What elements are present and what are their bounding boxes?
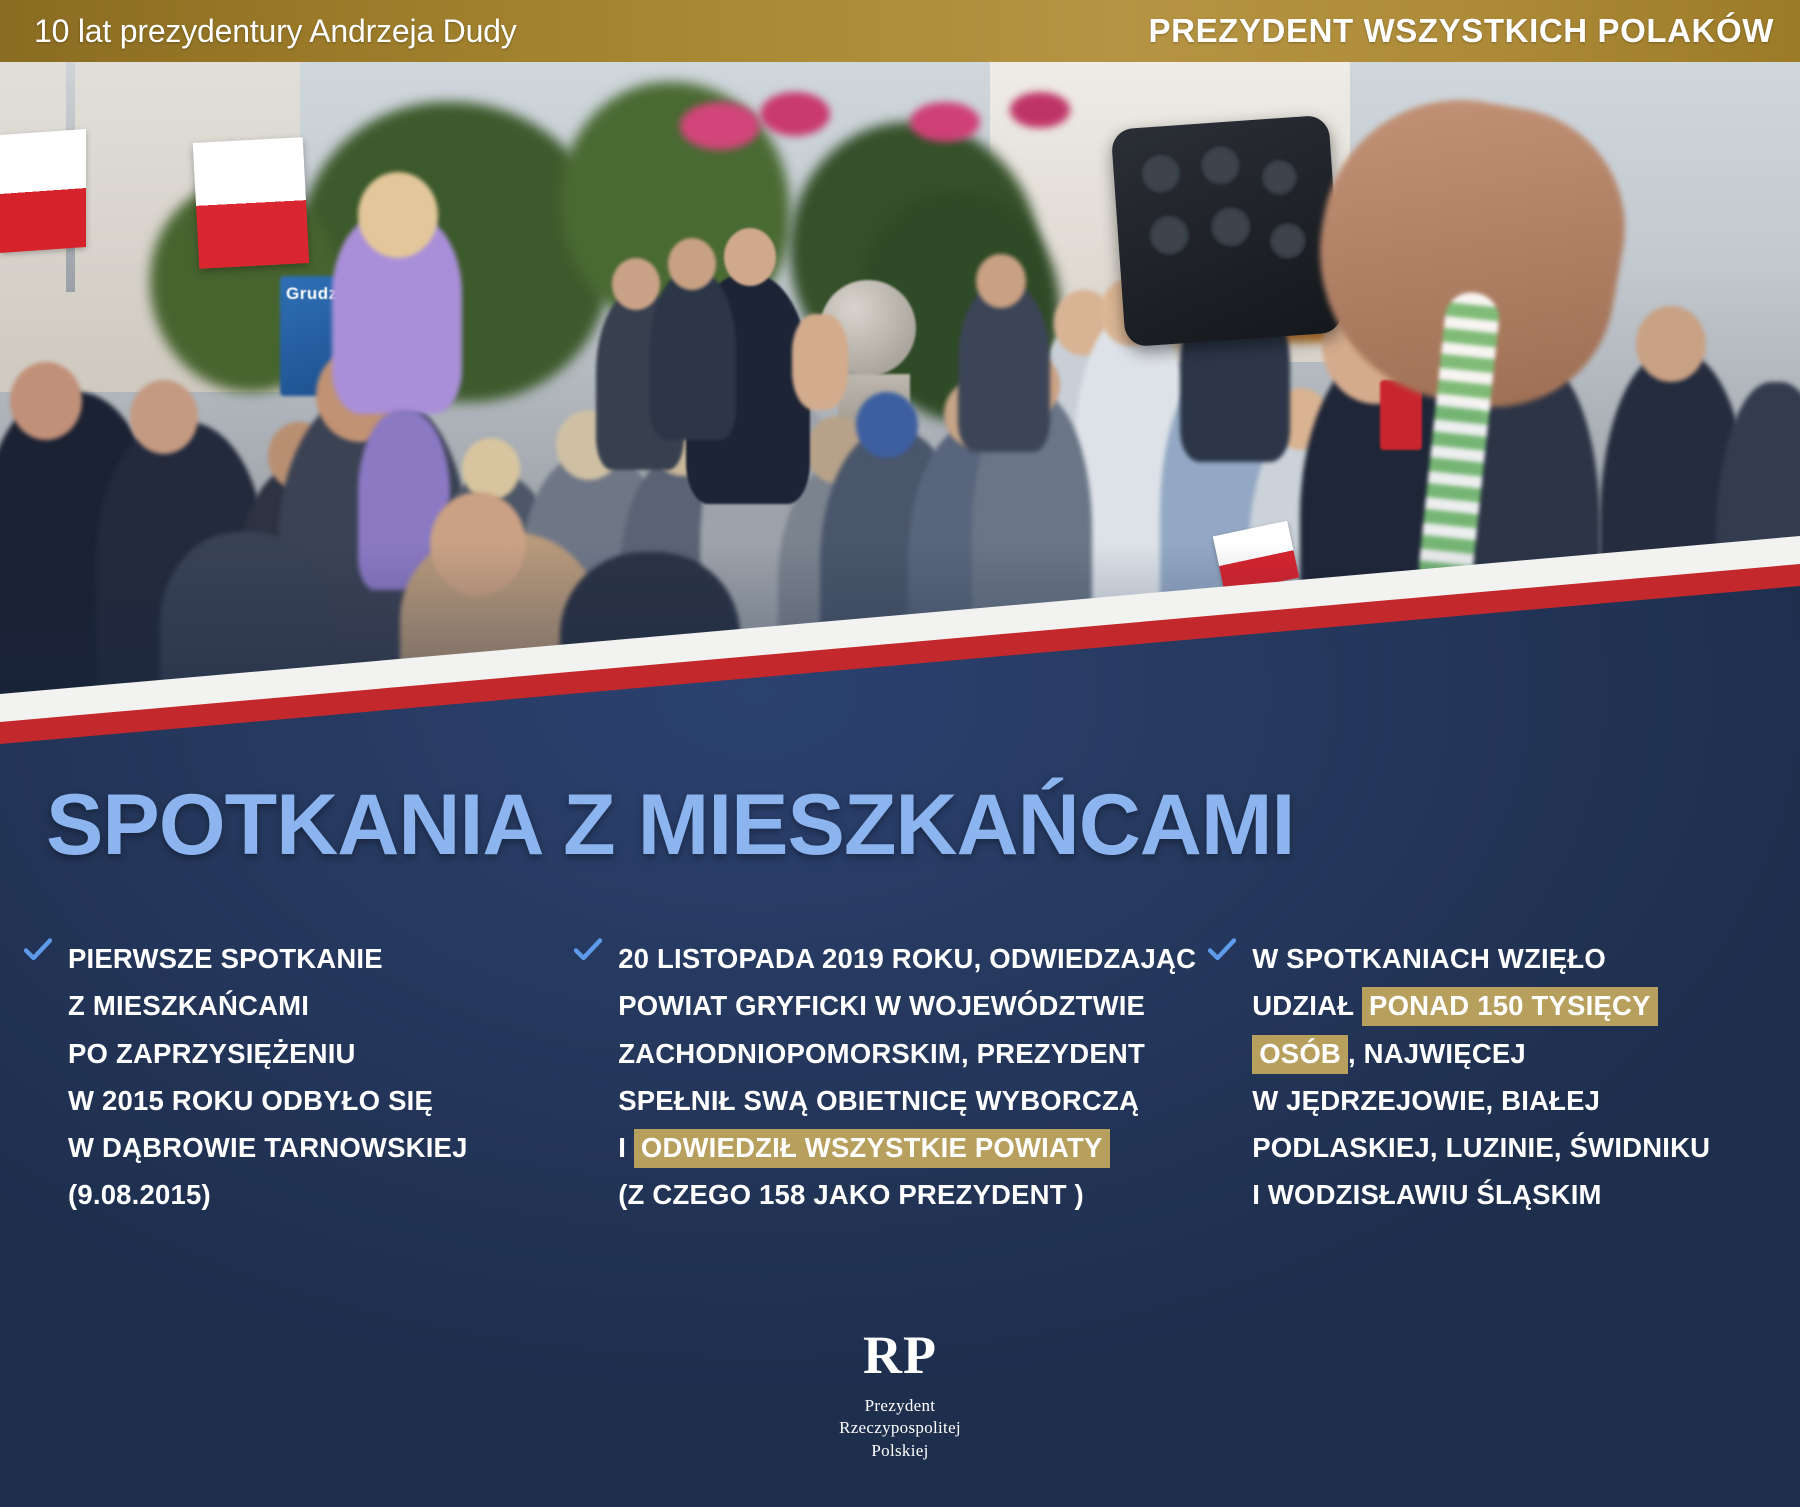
bullet-line: (Z CZEGO 158 JAKO PREZYDENT )	[618, 1171, 1196, 1218]
list-item: W SPOTKANIACH WZIĘŁO UDZIAŁ PONAD 150 TY…	[1208, 935, 1784, 1219]
bullet-line: POWIAT GRYFICKI W WOJEWÓDZTWIE	[618, 982, 1196, 1029]
bullet-line: 20 LISTOPADA 2019 ROKU, ODWIEDZAJĄC	[618, 935, 1196, 982]
header-right-title: PREZYDENT WSZYSTKICH POLAKÓW	[1149, 12, 1774, 50]
highlight-visited-all-counties: ODWIEDZIŁ WSZYSTKIE POWIATY	[634, 1129, 1110, 1168]
rp-monogram: RP	[0, 1328, 1800, 1382]
bullet-line: UDZIAŁ PONAD 150 TYSIĘCY	[1252, 982, 1710, 1029]
rp-caption-line-1: Prezydent	[0, 1395, 1800, 1417]
check-icon	[24, 937, 52, 973]
content-area: SPOTKANIA Z MIESZKAŃCAMI PIERWSZE SPOTKA…	[0, 0, 1800, 1507]
header-left-title: 10 lat prezydentury Andrzeja Dudy	[34, 13, 517, 50]
check-icon	[574, 937, 602, 973]
presidential-logo: RP Prezydent Rzeczypospolitej Polskiej	[0, 1328, 1800, 1462]
check-icon	[1208, 937, 1236, 973]
bullet-line: W JĘDRZEJOWIE, BIAŁEJ	[1252, 1077, 1710, 1124]
poster-root: 10 lat prezydentury Andrzeja Dudy PREZYD…	[0, 0, 1800, 1507]
bullet-line: SPEŁNIŁ SWĄ OBIETNICĘ WYBORCZĄ	[618, 1077, 1196, 1124]
bullet-line: I ODWIEDZIŁ WSZYSTKIE POWIATY	[618, 1124, 1196, 1171]
bullet-line: ZACHODNIOPOMORSKIM, PREZYDENT	[618, 1030, 1196, 1077]
bullet-text: PIERWSZE SPOTKANIE Z MIESZKAŃCAMI PO ZAP…	[68, 935, 468, 1219]
bullet-line: Z MIESZKAŃCAMI	[68, 982, 468, 1029]
bullet-text: 20 LISTOPADA 2019 ROKU, ODWIEDZAJĄC POWI…	[618, 935, 1196, 1219]
bullet-column-attendance: W SPOTKANIACH WZIĘŁO UDZIAŁ PONAD 150 TY…	[1208, 935, 1784, 1219]
page-title: SPOTKANIA Z MIESZKAŃCAMI	[46, 782, 1294, 868]
bullet-line: OSÓB, NAJWIĘCEJ	[1252, 1030, 1710, 1077]
bullet-line: I WODZISŁAWIU ŚLĄSKIM	[1252, 1171, 1710, 1218]
bullet-text: W SPOTKANIACH WZIĘŁO UDZIAŁ PONAD 150 TY…	[1252, 935, 1710, 1219]
list-item: PIERWSZE SPOTKANIE Z MIESZKAŃCAMI PO ZAP…	[24, 935, 550, 1219]
list-item: 20 LISTOPADA 2019 ROKU, ODWIEDZAJĄC POWI…	[574, 935, 1184, 1219]
bullet-line: PO ZAPRZYSIĘŻENIU	[68, 1030, 468, 1077]
rp-caption-line-2: Rzeczypospolitej	[0, 1417, 1800, 1439]
bullet-column-first-meeting: PIERWSZE SPOTKANIE Z MIESZKAŃCAMI PO ZAP…	[24, 935, 550, 1219]
rp-caption-line-3: Polskiej	[0, 1440, 1800, 1462]
header-bar: 10 lat prezydentury Andrzeja Dudy PREZYD…	[0, 0, 1800, 62]
bullet-line: W SPOTKANIACH WZIĘŁO	[1252, 935, 1710, 982]
rp-logo-caption: Prezydent Rzeczypospolitej Polskiej	[0, 1395, 1800, 1462]
bullet-line: (9.08.2015)	[68, 1171, 468, 1218]
bullet-line: PIERWSZE SPOTKANIE	[68, 935, 468, 982]
bullet-column-all-counties: 20 LISTOPADA 2019 ROKU, ODWIEDZAJĄC POWI…	[574, 935, 1184, 1219]
bullet-columns: PIERWSZE SPOTKANIE Z MIESZKAŃCAMI PO ZAP…	[24, 935, 1784, 1219]
bullet-line: W DĄBROWIE TARNOWSKIEJ	[68, 1124, 468, 1171]
bullet-line: W 2015 ROKU ODBYŁO SIĘ	[68, 1077, 468, 1124]
highlight-attendance-people: OSÓB	[1252, 1035, 1348, 1074]
highlight-attendance-number: PONAD 150 TYSIĘCY	[1362, 987, 1658, 1026]
bullet-line: PODLASKIEJ, LUZINIE, ŚWIDNIKU	[1252, 1124, 1710, 1171]
